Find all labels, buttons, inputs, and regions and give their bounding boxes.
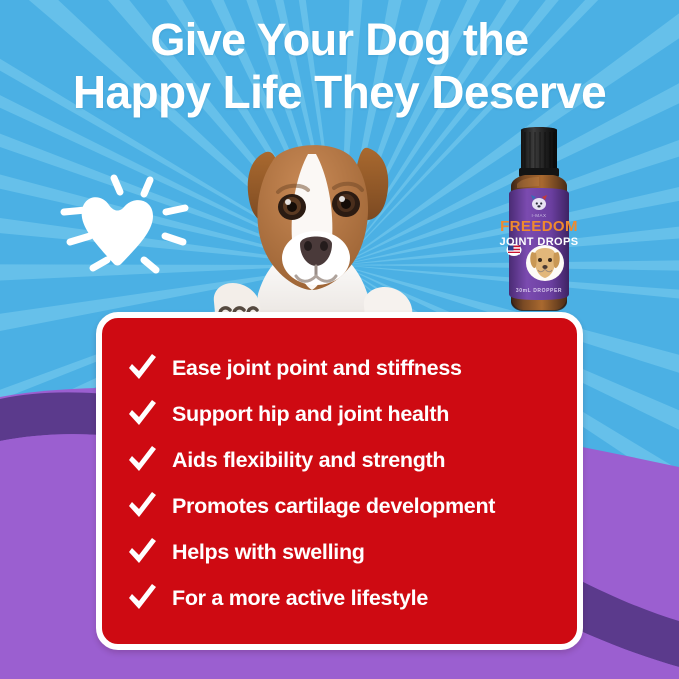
product-advertisement: Give Your Dog the Happy Life They Deserv… <box>0 0 679 679</box>
product-bottle: I-MAX FREEDOM JOINT DROPS <box>487 124 591 314</box>
check-icon <box>124 581 160 615</box>
check-icon <box>124 351 160 385</box>
benefit-item: Ease joint point and stiffness <box>124 348 559 388</box>
headline-line-2: Happy Life They Deserve <box>0 66 679 119</box>
bottle-size-text: 30mL DROPPER <box>516 288 562 294</box>
heart-icon <box>82 197 153 265</box>
usa-badge-icon <box>507 244 522 256</box>
benefit-item: Support hip and joint health <box>124 394 559 434</box>
benefit-label: Helps with swelling <box>172 541 365 564</box>
check-icon <box>124 535 160 569</box>
benefit-label: Support hip and joint health <box>172 403 449 426</box>
bottle-brand-name: FREEDOM <box>500 218 578 235</box>
headline-line-1: Give Your Dog the <box>150 14 528 65</box>
benefit-item: Aids flexibility and strength <box>124 440 559 480</box>
check-icon <box>124 397 160 431</box>
dog-eye-left <box>278 194 306 220</box>
benefits-panel: Ease joint point and stiffness Support h… <box>96 312 583 650</box>
dropper-cap <box>519 127 559 177</box>
benefit-item: For a more active lifestyle <box>124 578 559 618</box>
benefit-label: Aids flexibility and strength <box>172 449 445 472</box>
headline: Give Your Dog the Happy Life They Deserv… <box>0 14 679 120</box>
benefit-item: Helps with swelling <box>124 532 559 572</box>
benefit-label: For a more active lifestyle <box>172 587 428 610</box>
check-icon <box>124 443 160 477</box>
benefits-list: Ease joint point and stiffness Support h… <box>102 318 577 644</box>
heart-sparkle-decoration <box>52 170 202 290</box>
label-dog-photo <box>526 245 564 281</box>
benefit-label: Ease joint point and stiffness <box>172 357 462 380</box>
benefit-item: Promotes cartilage development <box>124 486 559 526</box>
check-icon <box>124 489 160 523</box>
benefit-label: Promotes cartilage development <box>172 495 495 518</box>
dog-eye-right <box>332 191 360 217</box>
